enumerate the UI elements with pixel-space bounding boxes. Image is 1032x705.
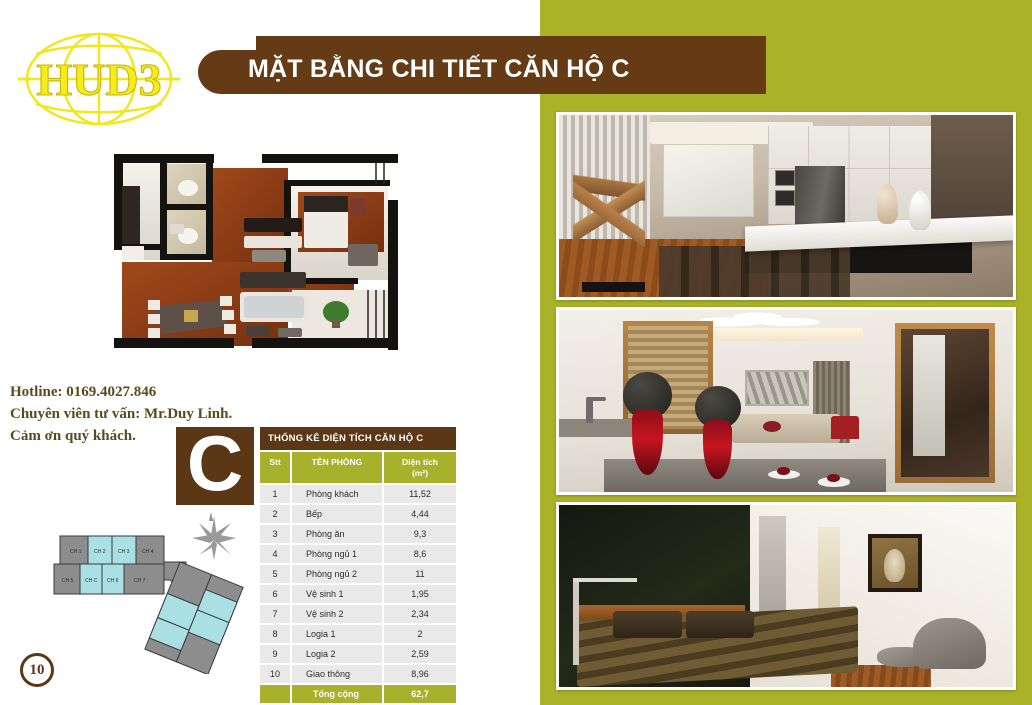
total-area: 62,7 — [384, 685, 456, 703]
photo-living-dining-image — [559, 310, 1013, 492]
svg-text:CH 3: CH 3 — [118, 549, 130, 555]
floorplan-3d-icon — [92, 140, 418, 372]
ceiling-cove-detail — [709, 328, 863, 341]
table-row: 5 Phòng ngủ 2 11 — [260, 565, 456, 583]
red-vase-topiary-detail — [623, 372, 673, 485]
row-name: Bếp — [292, 505, 382, 523]
table-row: 7 Vệ sinh 2 2,34 — [260, 605, 456, 623]
door-frame-detail — [895, 323, 995, 483]
sofa-detail — [732, 414, 841, 443]
oven-detail — [775, 170, 795, 186]
svg-text:CH 5: CH 5 — [62, 578, 74, 584]
row-area: 2,34 — [384, 605, 456, 623]
glass-door-detail — [913, 335, 945, 455]
svg-text:CH 4: CH 4 — [142, 549, 154, 555]
table-row: 4 Phòng ngủ 1 8,6 — [260, 545, 456, 563]
svg-text:CH 1: CH 1 — [70, 549, 82, 555]
vase-tall-detail — [877, 184, 898, 224]
hud3-logo-icon: HUD3 — [14, 27, 184, 131]
total-stt — [260, 685, 290, 703]
header-area-line1: Diện tích — [402, 457, 438, 467]
svg-text:CH 7: CH 7 — [134, 578, 146, 584]
row-stt: 4 — [260, 545, 290, 563]
row-area: 2 — [384, 625, 456, 643]
table-row: 8 Logia 1 2 — [260, 625, 456, 643]
photo-kitchen-dining[interactable] — [556, 112, 1016, 300]
row-name: Vệ sinh 2 — [292, 605, 382, 623]
table-row: 10 Giao thông 8,96 — [260, 665, 456, 683]
dining-chairs-detail — [659, 246, 850, 297]
kitchen-counter-detail — [559, 419, 632, 437]
framed-painting-detail — [868, 534, 922, 592]
row-area: 11 — [384, 565, 456, 583]
row-name: Giao thông — [292, 665, 382, 683]
row-name: Phòng ngủ 2 — [292, 565, 382, 583]
refrigerator-detail — [795, 166, 845, 228]
hud3-logo: HUD3 — [14, 27, 184, 131]
row-stt: 9 — [260, 645, 290, 663]
row-area: 11,52 — [384, 485, 456, 503]
brochure-page: HUD3 MẶT BẰNG CHI TIẾT CĂN HỘ C — [0, 0, 1032, 705]
row-area: 1,95 — [384, 585, 456, 603]
row-name: Phòng ngủ 1 — [292, 545, 382, 563]
pendant-lights-detail — [700, 310, 827, 330]
bed-pillow-detail — [686, 611, 754, 638]
row-name: Phòng ăn — [292, 525, 382, 543]
oven-lower-detail — [775, 190, 795, 206]
row-stt: 3 — [260, 525, 290, 543]
svg-text:CH C: CH C — [85, 578, 98, 584]
floor-lamp-detail — [573, 578, 579, 665]
row-area: 8,96 — [384, 665, 456, 683]
faucet-detail — [586, 397, 593, 422]
row-stt: 5 — [260, 565, 290, 583]
header-name: TÊN PHÒNG — [292, 452, 382, 483]
row-stt: 2 — [260, 505, 290, 523]
table-row: 9 Logia 2 2,59 — [260, 645, 456, 663]
bed-pillow-detail — [613, 611, 681, 638]
area-table: THỐNG KÊ DIỆN TÍCH CĂN HỘ C Stt TÊN PHÒN… — [260, 427, 456, 703]
hud3-logo-text: HUD3 — [36, 54, 161, 105]
total-label: Tổng cộng — [292, 685, 382, 703]
row-stt: 10 — [260, 665, 290, 683]
page-number-badge: 10 — [20, 653, 54, 687]
row-name: Vệ sinh 1 — [292, 585, 382, 603]
photo-bedroom[interactable] — [556, 502, 1016, 690]
sculpture-base-detail — [582, 282, 646, 291]
header-stt: Stt — [260, 452, 290, 483]
floorplan-3d[interactable] — [92, 140, 418, 372]
glass-wall-detail — [663, 144, 754, 217]
lounge-chair-detail — [913, 618, 986, 669]
plate-detail — [818, 477, 850, 486]
area-table-header-row: Stt TÊN PHÒNG Diện tích (m²) — [260, 452, 456, 483]
row-area: 8,6 — [384, 545, 456, 563]
header-area: Diện tích (m²) — [384, 452, 456, 483]
table-row: 2 Bếp 4,44 — [260, 505, 456, 523]
table-row: 6 Vệ sinh 1 1,95 — [260, 585, 456, 603]
row-stt: 7 — [260, 605, 290, 623]
wall-artwork-detail — [745, 370, 809, 406]
row-area: 2,59 — [384, 645, 456, 663]
area-table-title: THỐNG KÊ DIỆN TÍCH CĂN HỘ C — [260, 427, 456, 450]
row-area: 4,44 — [384, 505, 456, 523]
svg-text:CH 6: CH 6 — [107, 578, 119, 584]
right-wall-detail — [931, 115, 1013, 228]
red-vase-topiary-detail — [695, 386, 740, 488]
page-number: 10 — [30, 662, 45, 679]
row-name: Logia 2 — [292, 645, 382, 663]
red-chair-detail — [831, 416, 858, 440]
row-stt: 8 — [260, 625, 290, 643]
row-name: Phòng khách — [292, 485, 382, 503]
svg-text:CH 2: CH 2 — [94, 549, 106, 555]
table-row: 3 Phòng ăn 9,3 — [260, 525, 456, 543]
row-area: 9,3 — [384, 525, 456, 543]
photo-bedroom-image — [559, 505, 1013, 687]
row-stt: 1 — [260, 485, 290, 503]
hotline-text: Hotline: 0169.4027.846 — [10, 382, 275, 404]
row-name: Logia 1 — [292, 625, 382, 643]
site-plan-icon[interactable]: CH 1CH 2 CH 3CH 4 CH 5CH C CH 6CH 7 — [50, 528, 246, 674]
vase-white-detail — [909, 191, 932, 229]
area-table-total-row: Tổng cộng 62,7 — [260, 685, 456, 703]
photo-kitchen-dining-image — [559, 115, 1013, 297]
apartment-letter-badge: C — [176, 427, 254, 505]
wood-sculpture-detail — [573, 140, 646, 282]
table-row: 1 Phòng khách 11,52 — [260, 485, 456, 503]
apartment-letter: C — [187, 432, 243, 494]
page-title: MẶT BẰNG CHI TIẾT CĂN HỘ C — [248, 55, 630, 84]
header-area-line2: (m²) — [412, 468, 428, 478]
photo-living-dining[interactable] — [556, 307, 1016, 495]
row-stt: 6 — [260, 585, 290, 603]
photo-panel — [540, 0, 1032, 705]
